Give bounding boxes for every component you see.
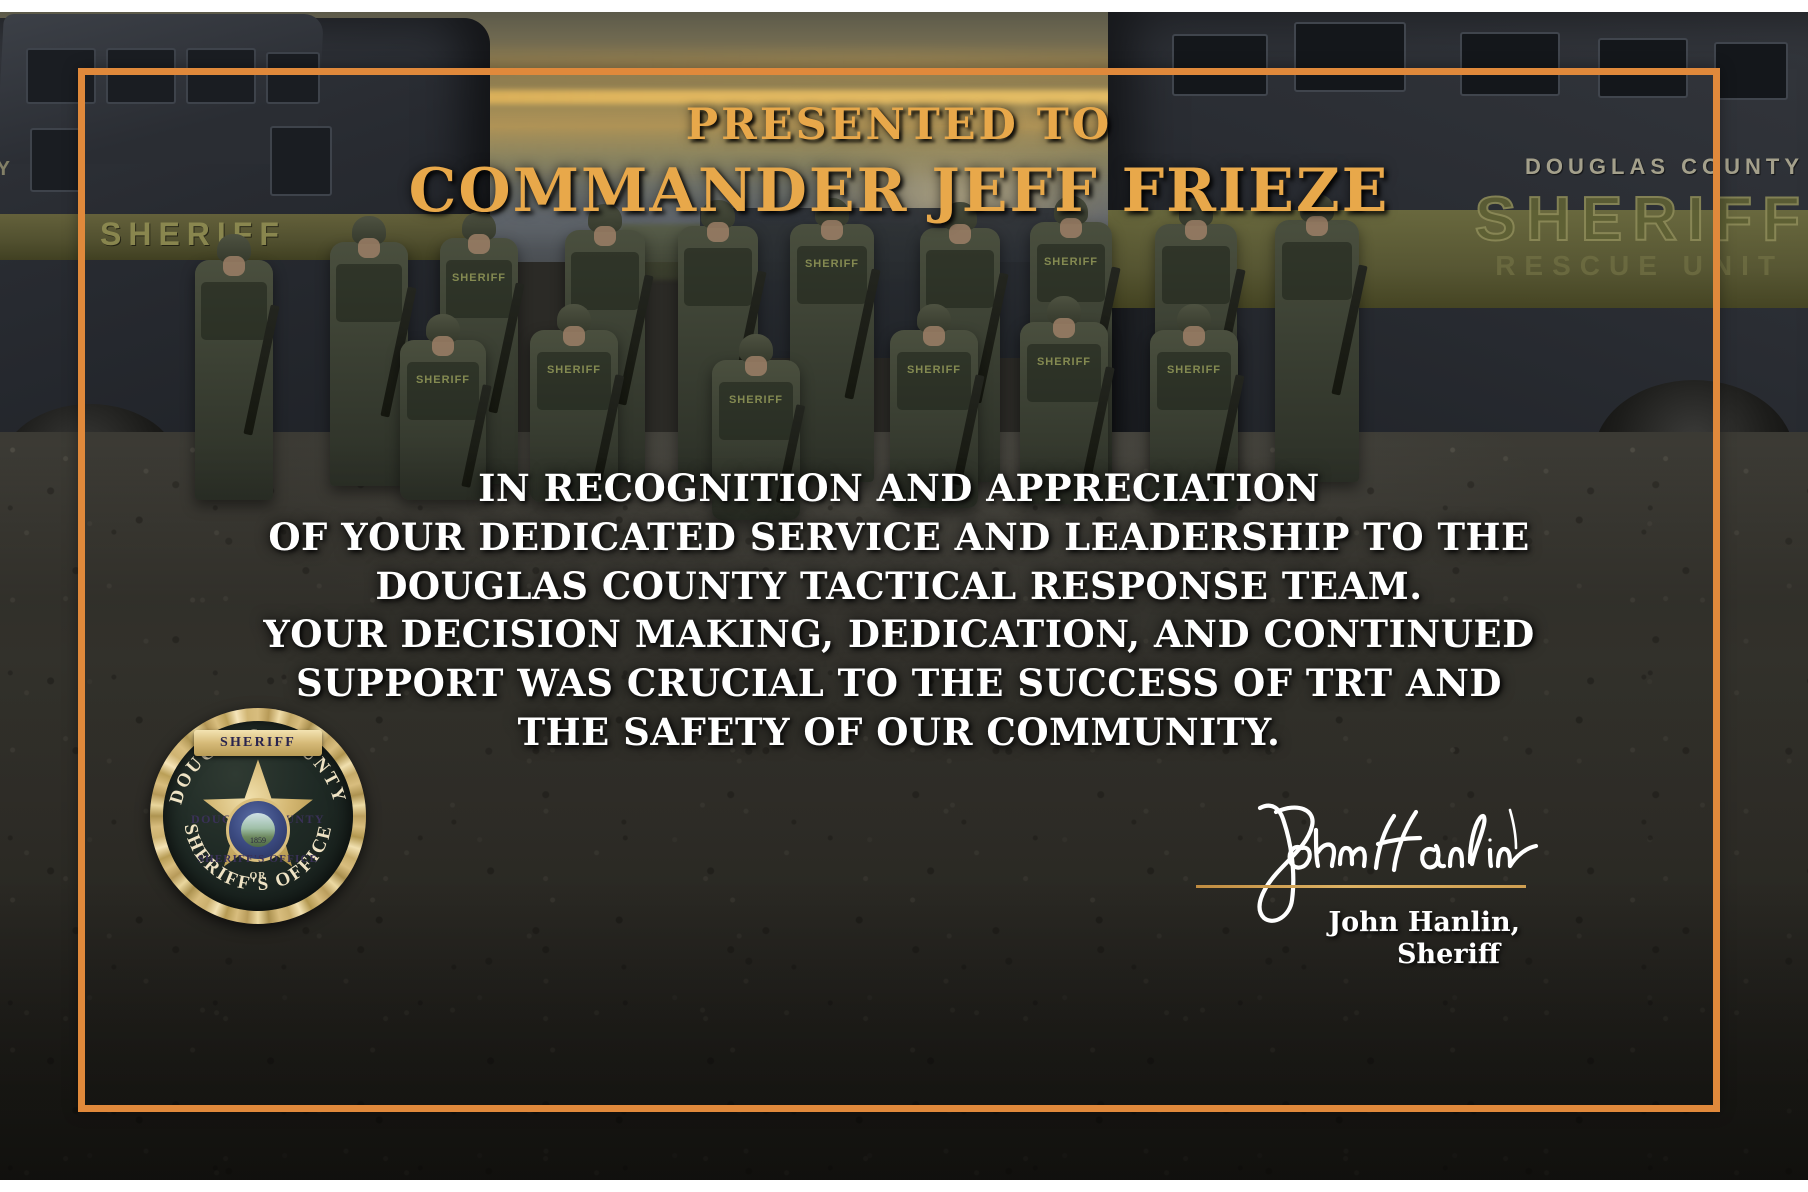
- signatory-name: John Hanlin,: [1328, 907, 1520, 938]
- vehicle-door-window: [30, 128, 84, 192]
- vehicle-county-text: NTY: [0, 158, 13, 181]
- badge-banner: SHERIFF: [194, 730, 322, 756]
- certificate-content: PRESENTED TO COMMANDER JEFF FRIEZE IN RE…: [78, 68, 1720, 1112]
- citation-line: SUPPORT WAS CRUCIAL TO THE SUCCESS OF TR…: [138, 659, 1660, 708]
- badge-star: DOUGLAS COUNTY 1859 SHERIFF'S OFFICE: [197, 759, 319, 881]
- vehicle-window: [1714, 42, 1788, 100]
- signature-rule: [1196, 885, 1526, 888]
- signatory-title: Sheriff: [1397, 939, 1500, 970]
- citation-line: IN RECOGNITION AND APPRECIATION: [138, 464, 1660, 513]
- presented-to-label: PRESENTED TO: [78, 100, 1720, 150]
- badge-star-office: SHERIFF'S OFFICE: [198, 853, 318, 865]
- certificate-canvas: NTY SHERIFF DOUGLAS COUNTY SHERIFF RESCU…: [0, 0, 1808, 1192]
- badge-seal-year: 1859: [250, 836, 266, 845]
- citation-line: YOUR DECISION MAKING, DEDICATION, AND CO…: [138, 610, 1660, 659]
- citation-body: IN RECOGNITION AND APPRECIATION OF YOUR …: [138, 464, 1660, 757]
- citation-line: OF YOUR DEDICATED SERVICE AND LEADERSHIP…: [138, 513, 1660, 562]
- citation-line: DOUGLAS COUNTY TACTICAL RESPONSE TEAM.: [138, 562, 1660, 611]
- citation-line: THE SAFETY OF OUR COMMUNITY.: [138, 708, 1660, 757]
- recipient-name: COMMANDER JEFF FRIEZE: [78, 156, 1720, 226]
- badge-state-abbrev: OR: [250, 871, 267, 882]
- sheriff-badge-seal: DOUGLAS COUNTY SHERIFF'S OFFICE DOUGLAS …: [150, 708, 366, 924]
- badge-banner-text: SHERIFF: [220, 735, 296, 751]
